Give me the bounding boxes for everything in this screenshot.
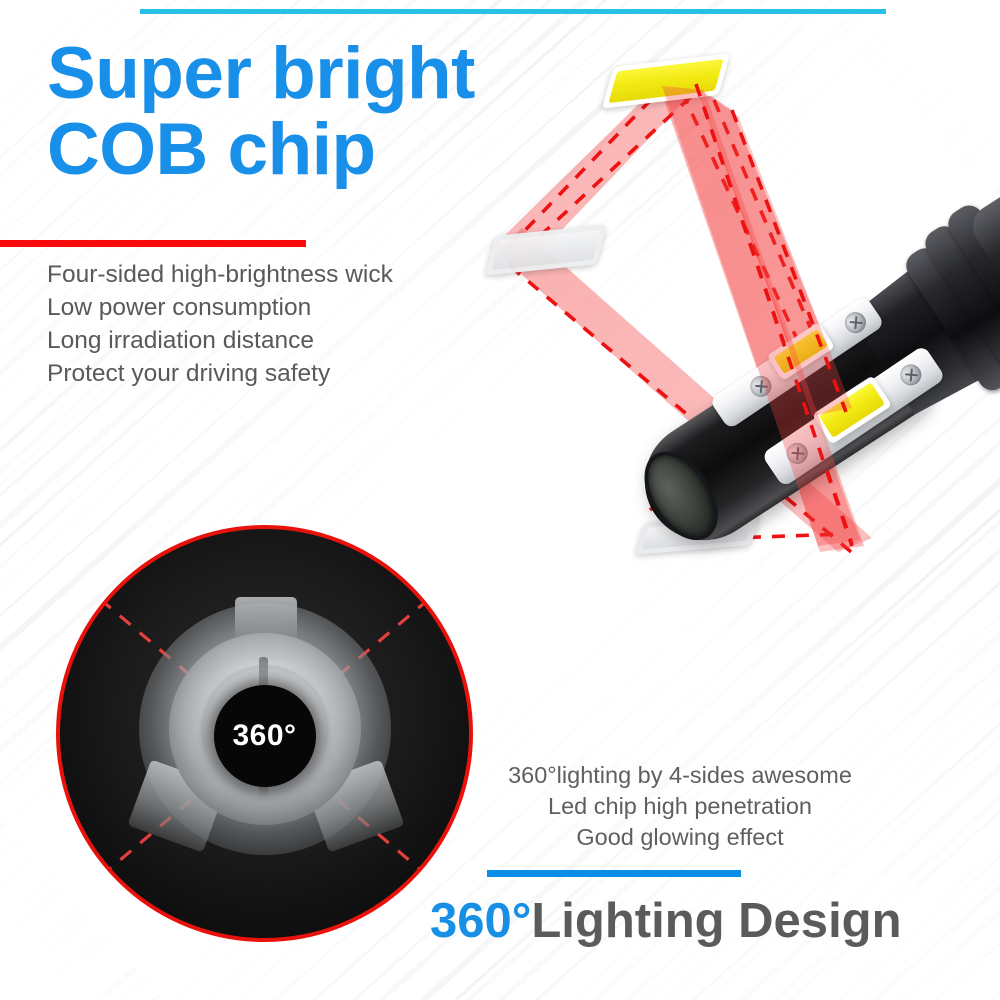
cob-panel-top (610, 60, 722, 102)
top-cyan-divider (140, 9, 886, 14)
footer-feature-list: 360°lighting by 4-sides awesome Led chip… (430, 760, 930, 853)
feature-item: Low power consumption (47, 291, 497, 324)
footer-title-rest: Lighting Design (531, 894, 901, 948)
badge-360-label: 360° (232, 719, 296, 753)
cob-chip (602, 53, 730, 108)
product-image (500, 40, 1000, 600)
feature-item: Protect your driving safety (47, 357, 497, 390)
footer-feature-item: Led chip high penetration (430, 791, 930, 822)
feature-item: Long irradiation distance (47, 324, 497, 357)
bulb-front-view-inset: 360° (56, 525, 473, 942)
headline-line-1: Super bright (47, 33, 475, 114)
cob-chip-reverse (485, 224, 607, 275)
footer-title-accent: 360° (430, 894, 531, 948)
feature-list: Four-sided high-brightness wick Low powe… (47, 258, 497, 390)
feature-item: Four-sided high-brightness wick (47, 258, 497, 291)
footer-feature-item: 360°lighting by 4-sides awesome (430, 760, 930, 791)
headline-red-underline (0, 240, 306, 247)
bulb-illustration (500, 40, 1000, 600)
footer-feature-item: Good glowing effect (430, 822, 930, 853)
footer-blue-divider (487, 870, 741, 877)
product-feature-banner: Super bright COB chip Four-sided high-br… (0, 0, 1000, 1000)
page-title: Super bright COB chip (47, 36, 567, 188)
badge-360: 360° (214, 685, 316, 787)
headline-line-2: COB chip (47, 112, 567, 188)
footer-title: 360°Lighting Design (430, 893, 1000, 949)
cob-panel-left (492, 230, 600, 270)
